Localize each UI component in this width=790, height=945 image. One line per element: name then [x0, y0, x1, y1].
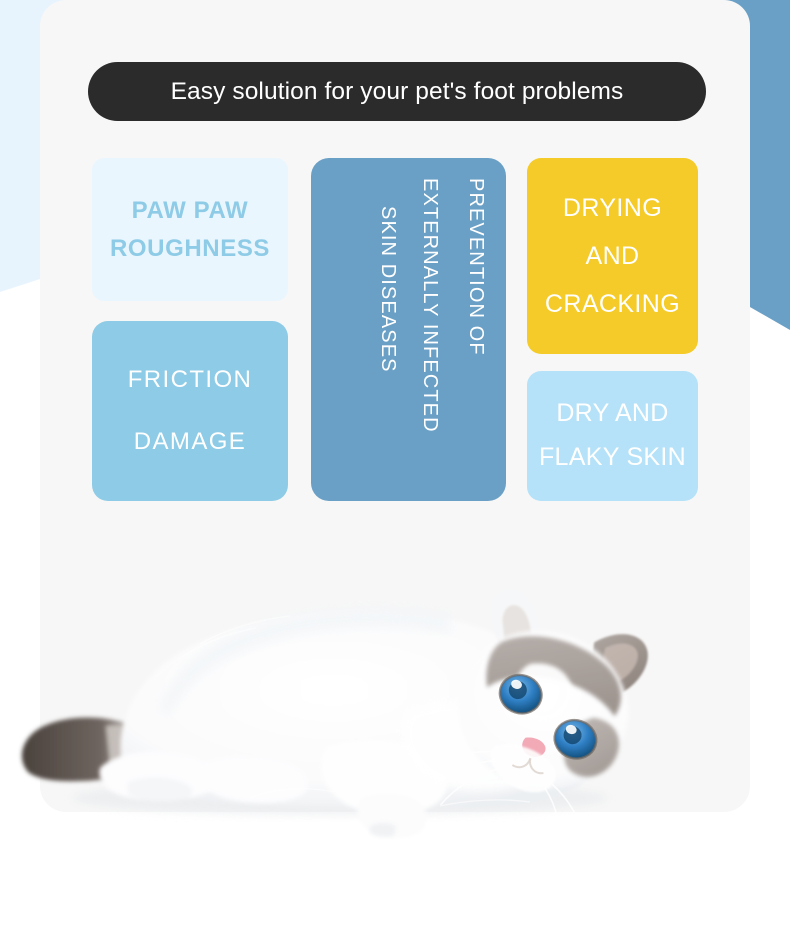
- card-line: DRY AND: [556, 399, 668, 427]
- card-dry-flaky-skin-label: DRY AND FLAKY SKIN: [539, 392, 686, 480]
- card-paw-roughness: PAW PAW ROUGHNESS: [92, 158, 288, 301]
- card-line: FLAKY SKIN: [539, 443, 686, 471]
- card-drying-cracking: DRYING AND CRACKING: [527, 158, 698, 354]
- card-line: FRICTION: [128, 366, 253, 393]
- card-line: DRYING: [563, 194, 662, 222]
- card-line: PAW PAW: [132, 197, 249, 224]
- content-card: Easy solution for your pet's foot proble…: [40, 0, 750, 812]
- card-drying-cracking-label: DRYING AND CRACKING: [545, 184, 680, 329]
- infographic-page: Easy solution for your pet's foot proble…: [0, 0, 790, 945]
- card-friction-damage-label: FRICTION DAMAGE: [128, 349, 253, 474]
- card-line: ROUGHNESS: [110, 235, 270, 262]
- card-skin-prevention-column-3: SKIN DISEASES: [378, 206, 398, 373]
- card-paw-roughness-label: PAW PAW ROUGHNESS: [110, 192, 270, 266]
- card-skin-prevention-column-1: PREVENTION OF: [466, 178, 486, 356]
- card-skin-prevention-column-2: EXTERNALLY INFECTED: [420, 178, 440, 433]
- card-line: AND: [586, 242, 640, 270]
- card-dry-flaky-skin: DRY AND FLAKY SKIN: [527, 371, 698, 501]
- card-friction-damage: FRICTION DAMAGE: [92, 321, 288, 501]
- card-line: DAMAGE: [134, 428, 246, 455]
- benefit-card-grid: PAW PAW ROUGHNESS FRICTION DAMAGE PREVEN…: [40, 0, 750, 520]
- card-line: CRACKING: [545, 290, 680, 318]
- card-skin-prevention: PREVENTION OF EXTERNALLY INFECTED SKIN D…: [311, 158, 506, 501]
